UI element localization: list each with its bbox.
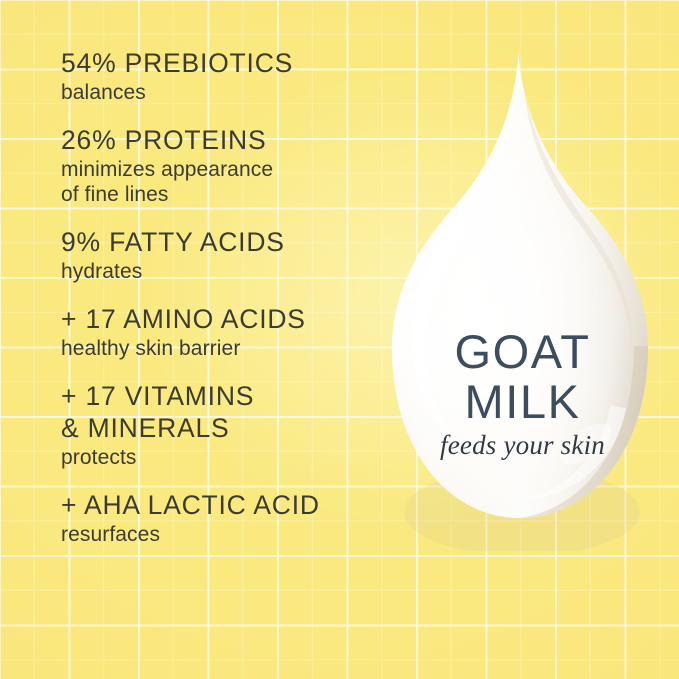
- ingredient-benefit: minimizes appearance of fine lines: [61, 157, 391, 207]
- list-item: + 17 VITAMINS & MINERALS protects: [61, 380, 391, 470]
- ingredient-benefit: protects: [61, 445, 391, 470]
- list-item: + 17 AMINO ACIDS healthy skin barrier: [61, 303, 391, 361]
- ingredient-benefit: healthy skin barrier: [61, 336, 391, 361]
- ingredient-heading: + AHA LACTIC ACID: [61, 489, 391, 521]
- ingredient-list: 54% PREBIOTICS balances 26% PROTEINS min…: [61, 47, 391, 547]
- ingredient-benefit: resurfaces: [61, 522, 391, 547]
- ingredient-benefit: balances: [61, 80, 391, 105]
- list-item: + AHA LACTIC ACID resurfaces: [61, 489, 391, 547]
- droplet-shading: [372, 46, 672, 551]
- ingredient-benefit: hydrates: [61, 259, 391, 284]
- ingredient-heading: + 17 VITAMINS & MINERALS: [61, 380, 391, 444]
- milk-droplet-icon: [372, 46, 672, 551]
- ingredient-heading: 9% FATTY ACIDS: [61, 226, 391, 258]
- list-item: 26% PROTEINS minimizes appearance of fin…: [61, 124, 391, 207]
- list-item: 9% FATTY ACIDS hydrates: [61, 226, 391, 284]
- milk-droplet-graphic: [372, 46, 672, 551]
- ingredient-heading: 26% PROTEINS: [61, 124, 391, 156]
- ingredient-heading: + 17 AMINO ACIDS: [61, 303, 391, 335]
- list-item: 54% PREBIOTICS balances: [61, 47, 391, 105]
- ingredient-heading: 54% PREBIOTICS: [61, 47, 391, 79]
- infographic-canvas: 54% PREBIOTICS balances 26% PROTEINS min…: [0, 0, 679, 679]
